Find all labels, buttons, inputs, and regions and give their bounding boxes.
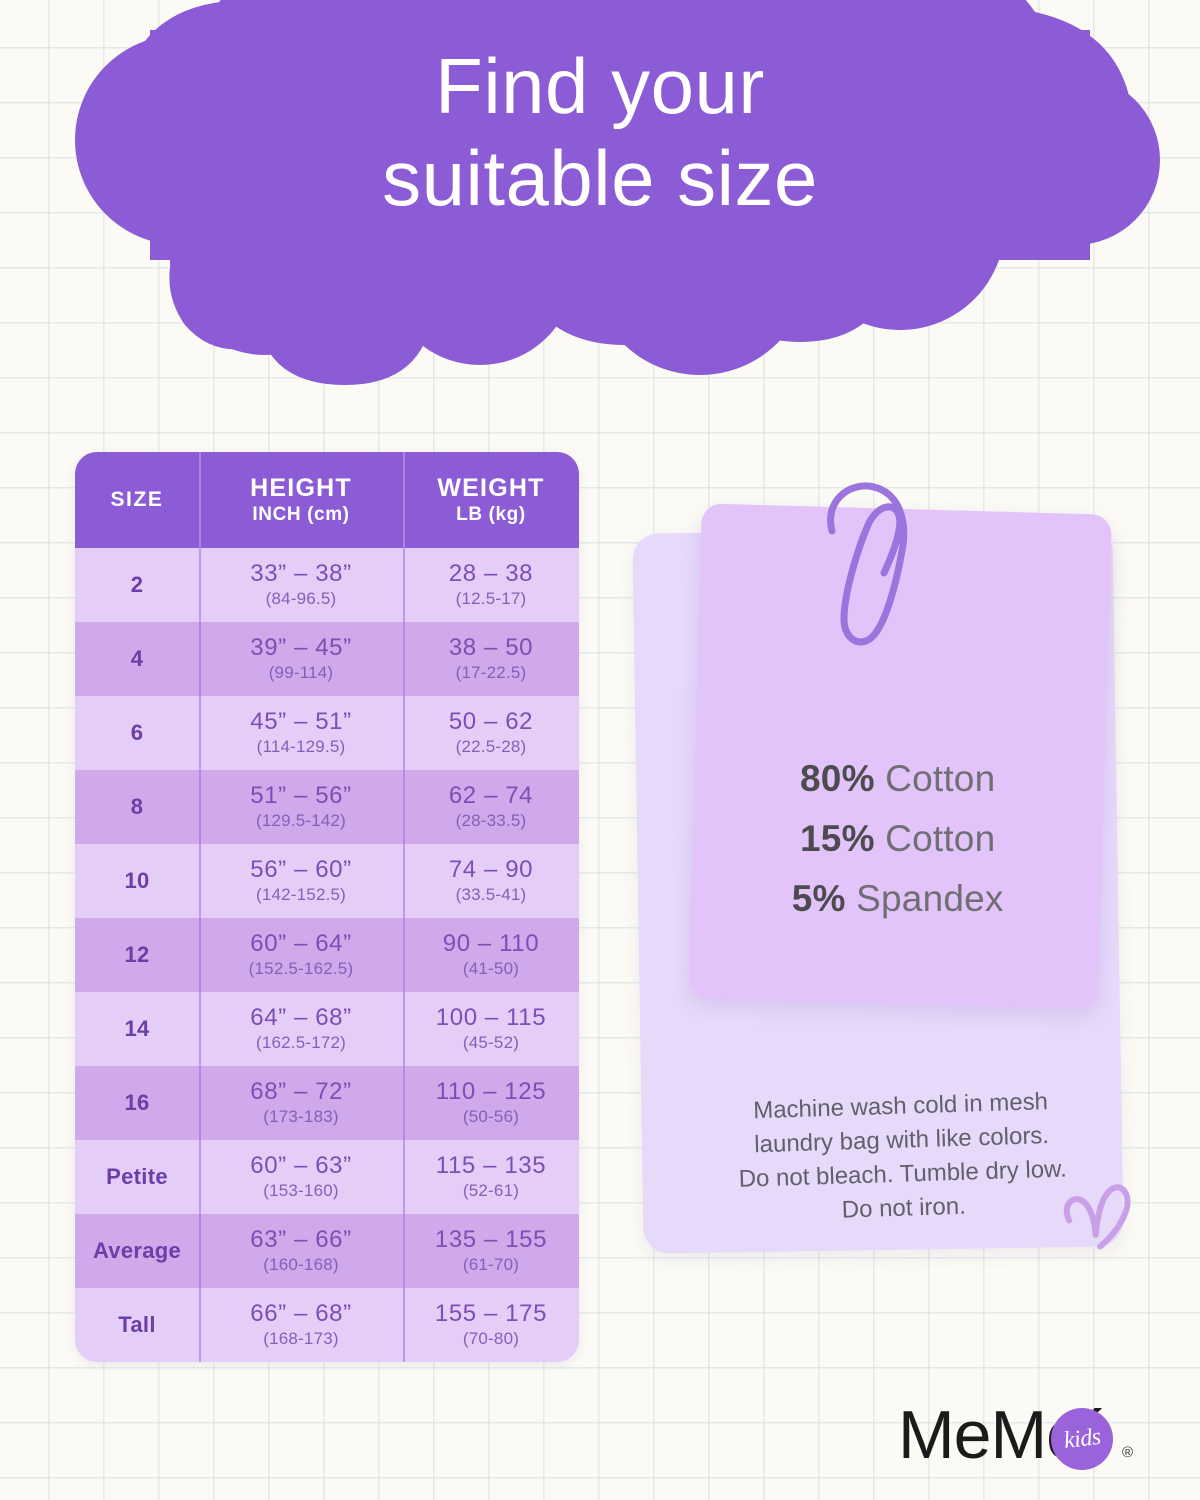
cell-weight: 74 – 90(33.5-41) [403,844,579,918]
weight-kg: (17-22.5) [456,663,527,683]
fabric-line: 80% Cotton [693,749,1103,809]
table-row: 645” – 51”(114-129.5)50 – 62(22.5-28) [75,696,579,770]
column-header-size: SIZE [75,452,199,548]
height-inches: 63” – 66” [250,1227,351,1252]
brand-logo: MeMoí kids ® [898,1392,1138,1478]
weight-kg: (41-50) [463,959,519,979]
size-value: 4 [131,646,144,672]
height-cm: (114-129.5) [257,737,346,757]
paperclip-icon [816,473,936,653]
weight-lb: 62 – 74 [449,783,533,808]
column-header-weight: WEIGHT LB (kg) [403,452,579,548]
table-row: 233” – 38”(84-96.5)28 – 38(12.5-17) [75,548,579,622]
cell-size: Petite [75,1140,199,1214]
cell-weight: 28 – 38(12.5-17) [403,548,579,622]
cell-height: 45” – 51”(114-129.5) [199,696,403,770]
table-row: 1668” – 72”(173-183)110 – 125(50-56) [75,1066,579,1140]
cell-height: 60” – 63”(153-160) [199,1140,403,1214]
size-value: 2 [131,572,144,598]
cell-height: 64” – 68”(162.5-172) [199,992,403,1066]
height-inches: 64” – 68” [250,1005,351,1030]
column-header-height: HEIGHT INCH (cm) [199,452,403,548]
height-cm: (173-183) [263,1107,339,1127]
weight-kg: (50-56) [463,1107,519,1127]
fabric-material: Cotton [885,758,995,799]
cell-weight: 62 – 74(28-33.5) [403,770,579,844]
heart-doodle-icon [1050,1173,1148,1271]
fabric-percent: 5% [792,878,846,919]
height-inches: 45” – 51” [250,709,351,734]
weight-kg: (70-80) [463,1329,519,1349]
size-value: 8 [131,794,144,820]
height-cm: (99-114) [269,663,334,683]
weight-lb: 135 – 155 [435,1227,547,1252]
cell-weight: 38 – 50(17-22.5) [403,622,579,696]
column-header-weight-label: WEIGHT [437,474,544,503]
notes-area: Machine wash cold in mesh laundry bag wi… [620,485,1140,1275]
cell-height: 56” – 60”(142-152.5) [199,844,403,918]
cell-weight: 90 – 110(41-50) [403,918,579,992]
weight-lb: 50 – 62 [449,709,533,734]
cell-size: 6 [75,696,199,770]
column-header-height-label: HEIGHT [250,474,352,503]
cell-weight: 135 – 155(61-70) [403,1214,579,1288]
fabric-material: Spandex [856,878,1003,919]
height-cm: (129.5-142) [256,811,346,831]
cell-height: 39” – 45”(99-114) [199,622,403,696]
cell-size: 8 [75,770,199,844]
weight-lb: 100 – 115 [436,1005,546,1030]
cell-size: 2 [75,548,199,622]
weight-lb: 110 – 125 [436,1079,546,1104]
weight-kg: (12.5-17) [456,589,527,609]
cell-height: 33” – 38”(84-96.5) [199,548,403,622]
weight-lb: 74 – 90 [449,857,533,882]
cell-weight: 110 – 125(50-56) [403,1066,579,1140]
height-cm: (84-96.5) [266,589,337,609]
table-row: 1260” – 64”(152.5-162.5)90 – 110(41-50) [75,918,579,992]
size-value: Petite [106,1164,168,1190]
height-cm: (160-168) [263,1255,339,1275]
weight-kg: (22.5-28) [456,737,527,757]
table-row: 1464” – 68”(162.5-172)100 – 115(45-52) [75,992,579,1066]
weight-lb: 115 – 135 [436,1153,546,1178]
cell-size: 14 [75,992,199,1066]
height-cm: (142-152.5) [256,885,346,905]
fabric-material: Cotton [885,818,995,859]
weight-kg: (33.5-41) [456,885,527,905]
table-body: 233” – 38”(84-96.5)28 – 38(12.5-17)439” … [75,548,579,1362]
cell-size: 4 [75,622,199,696]
fabric-line: 5% Spandex [693,869,1103,929]
size-value: Tall [118,1312,155,1338]
height-cm: (162.5-172) [256,1033,346,1053]
logo-kids-label: kids [1062,1423,1102,1454]
cell-height: 68” – 72”(173-183) [199,1066,403,1140]
size-value: 16 [124,1090,149,1116]
height-inches: 39” – 45” [250,635,351,660]
column-header-size-label: SIZE [110,488,163,512]
fabric-line: 15% Cotton [693,809,1103,869]
height-inches: 56” – 60” [250,857,351,882]
weight-lb: 155 – 175 [435,1301,547,1326]
cell-weight: 115 – 135(52-61) [403,1140,579,1214]
cell-size: Average [75,1214,199,1288]
size-value: 6 [131,720,144,746]
table-row: 1056” – 60”(142-152.5)74 – 90(33.5-41) [75,844,579,918]
table-header-row: SIZE HEIGHT INCH (cm) WEIGHT LB (kg) [75,452,579,548]
height-cm: (153-160) [263,1181,339,1201]
height-cm: (168-173) [263,1329,339,1349]
height-inches: 66” – 68” [250,1301,351,1326]
fabric-percent: 15% [800,818,875,859]
weight-lb: 38 – 50 [449,635,533,660]
weight-lb: 28 – 38 [449,561,533,586]
cell-size: 12 [75,918,199,992]
height-inches: 68” – 72” [250,1079,351,1104]
height-inches: 60” – 64” [250,931,351,956]
table-row: Average63” – 66”(160-168)135 – 155(61-70… [75,1214,579,1288]
cell-size: Tall [75,1288,199,1362]
weight-lb: 90 – 110 [443,931,539,956]
table-row: Petite60” – 63”(153-160)115 – 135(52-61) [75,1140,579,1214]
cell-height: 63” – 66”(160-168) [199,1214,403,1288]
size-value: 14 [124,1016,149,1042]
cell-height: 51” – 56”(129.5-142) [199,770,403,844]
cell-weight: 100 – 115(45-52) [403,992,579,1066]
weight-kg: (61-70) [463,1255,519,1275]
cell-height: 60” – 64”(152.5-162.5) [199,918,403,992]
weight-kg: (52-61) [463,1181,519,1201]
height-inches: 51” – 56” [250,783,351,808]
weight-kg: (45-52) [463,1033,519,1053]
size-value: 10 [124,868,149,894]
fabric-composition-list: 80% Cotton15% Cotton5% Spandex [693,749,1103,929]
height-inches: 60” – 63” [250,1153,351,1178]
logo-kids-badge: kids [1051,1408,1113,1470]
weight-kg: (28-33.5) [456,811,527,831]
cell-size: 16 [75,1066,199,1140]
page-title: Find your suitable size [0,40,1200,224]
cell-height: 66” – 68”(168-173) [199,1288,403,1362]
table-row: Tall66” – 68”(168-173)155 – 175(70-80) [75,1288,579,1362]
fabric-percent: 80% [800,758,875,799]
height-inches: 33” – 38” [250,561,351,586]
height-cm: (152.5-162.5) [249,959,354,979]
size-value: Average [93,1238,181,1264]
cell-weight: 50 – 62(22.5-28) [403,696,579,770]
size-value: 12 [124,942,149,968]
table-row: 851” – 56”(129.5-142)62 – 74(28-33.5) [75,770,579,844]
cell-weight: 155 – 175(70-80) [403,1288,579,1362]
size-chart-table: SIZE HEIGHT INCH (cm) WEIGHT LB (kg) 233… [75,452,579,1362]
column-header-weight-unit: LB (kg) [456,504,526,526]
registered-trademark-symbol: ® [1122,1444,1133,1461]
table-row: 439” – 45”(99-114)38 – 50(17-22.5) [75,622,579,696]
column-header-height-unit: INCH (cm) [252,504,349,526]
cell-size: 10 [75,844,199,918]
